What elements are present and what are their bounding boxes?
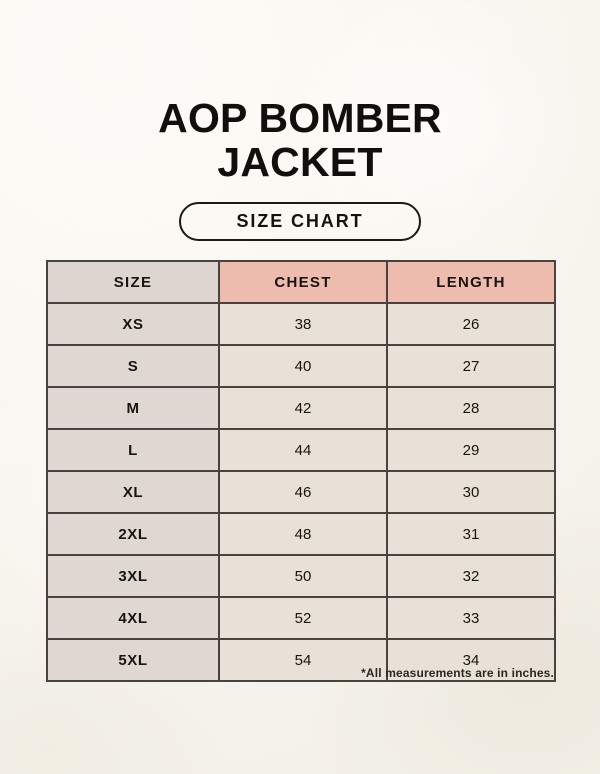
cell-chest: 38 (219, 303, 387, 345)
column-header-chest: CHEST (219, 261, 387, 303)
page-title: AOP BOMBER JACKET (0, 96, 600, 184)
cell-chest: 52 (219, 597, 387, 639)
cell-size: L (47, 429, 219, 471)
cell-length: 27 (387, 345, 555, 387)
table-header: SIZE CHEST LENGTH (47, 261, 555, 303)
cell-chest: 48 (219, 513, 387, 555)
table-row: 4XL5233 (47, 597, 555, 639)
cell-length: 29 (387, 429, 555, 471)
cell-size: 2XL (47, 513, 219, 555)
page-title-line-1: AOP BOMBER (0, 96, 600, 140)
cell-size: 4XL (47, 597, 219, 639)
table-row: XS3826 (47, 303, 555, 345)
table-body: XS3826S4027M4228L4429XL46302XL48313XL503… (47, 303, 555, 681)
cell-length: 32 (387, 555, 555, 597)
table-row: S4027 (47, 345, 555, 387)
cell-length: 26 (387, 303, 555, 345)
cell-chest: 46 (219, 471, 387, 513)
cell-size: M (47, 387, 219, 429)
table-row: M4228 (47, 387, 555, 429)
size-chart-badge: SIZE CHART (179, 202, 421, 241)
size-chart-table: SIZE CHEST LENGTH XS3826S4027M4228L4429X… (46, 260, 556, 682)
size-chart-page: AOP BOMBER JACKET SIZE CHART SIZE CHEST … (0, 0, 600, 774)
size-chart-badge-label: SIZE CHART (237, 211, 364, 232)
cell-chest: 50 (219, 555, 387, 597)
column-header-size: SIZE (47, 261, 219, 303)
cell-chest: 44 (219, 429, 387, 471)
cell-length: 30 (387, 471, 555, 513)
cell-chest: 42 (219, 387, 387, 429)
page-title-line-2: JACKET (0, 140, 600, 184)
cell-size: 3XL (47, 555, 219, 597)
column-header-length: LENGTH (387, 261, 555, 303)
table-row: XL4630 (47, 471, 555, 513)
cell-length: 28 (387, 387, 555, 429)
table-row: 3XL5032 (47, 555, 555, 597)
table-header-row: SIZE CHEST LENGTH (47, 261, 555, 303)
cell-size: XS (47, 303, 219, 345)
cell-size: XL (47, 471, 219, 513)
table-row: L4429 (47, 429, 555, 471)
cell-chest: 40 (219, 345, 387, 387)
table-row: 2XL4831 (47, 513, 555, 555)
cell-size: S (47, 345, 219, 387)
cell-length: 31 (387, 513, 555, 555)
measurement-footnote: *All measurements are in inches. (46, 666, 554, 680)
cell-length: 33 (387, 597, 555, 639)
